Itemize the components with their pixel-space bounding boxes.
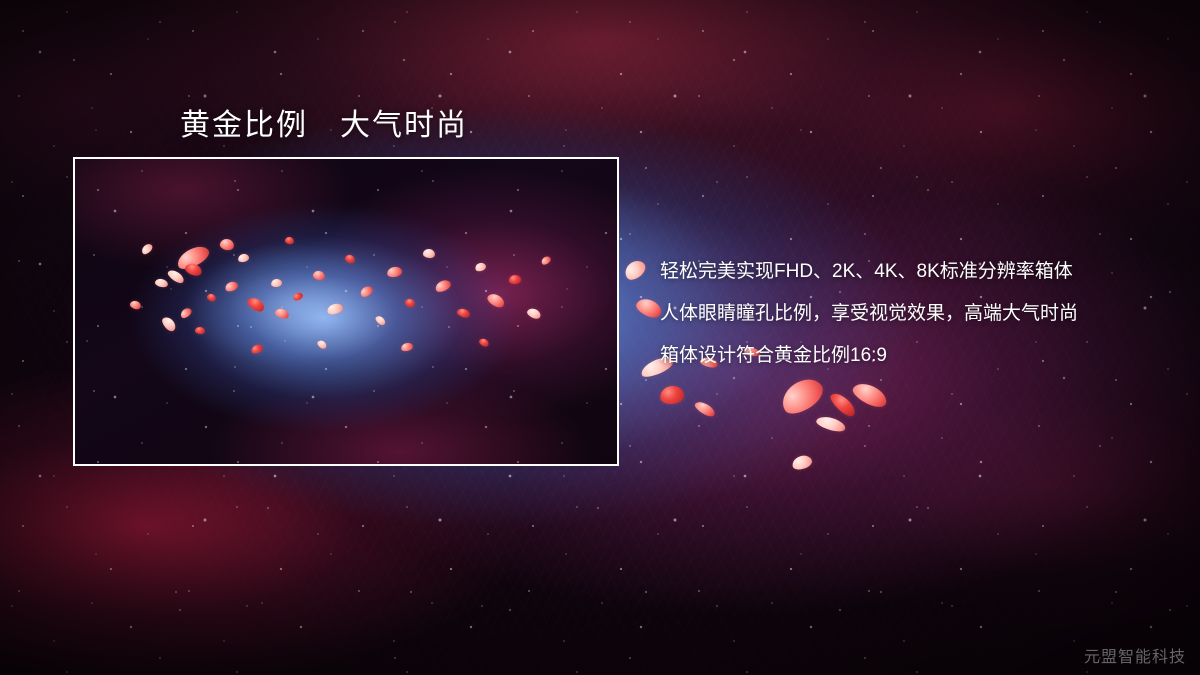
rose-petal <box>344 253 356 265</box>
rose-petal <box>359 284 375 299</box>
body-line-2: 人体眼睛瞳孔比例，享受视觉效果，高端大气时尚 <box>660 293 1180 335</box>
rose-petal <box>274 307 290 320</box>
rose-petal <box>326 302 344 316</box>
picture-nebula-image <box>75 159 617 464</box>
rose-petal <box>693 399 717 419</box>
rose-petal <box>434 278 453 294</box>
rose-petal <box>400 342 414 353</box>
rose-petal <box>485 291 506 310</box>
rose-petal <box>270 278 282 287</box>
rose-petal <box>790 453 813 472</box>
rose-petal <box>386 266 403 279</box>
rose-petal <box>195 327 206 335</box>
page-title: 黄金比例 大气时尚 <box>180 100 468 144</box>
rose-petal <box>154 278 168 289</box>
rose-petal <box>219 238 235 251</box>
rose-petal <box>850 379 890 411</box>
rose-petal <box>659 384 685 405</box>
rose-petal <box>776 372 828 420</box>
rose-petal <box>312 270 326 282</box>
rose-petal <box>815 414 847 434</box>
rose-petal <box>456 307 471 319</box>
rose-petal <box>316 339 328 351</box>
framed-picture <box>73 157 619 466</box>
rose-petal <box>237 253 250 264</box>
watermark: 元盟智能科技 <box>1084 643 1186 667</box>
rose-petal <box>245 295 266 314</box>
body-copy: 轻松完美实现FHD、2K、4K、8K标准分辨率箱体 人体眼睛瞳孔比例，享受视觉效… <box>660 251 1180 377</box>
rose-petal <box>374 314 387 326</box>
rose-petal <box>526 307 542 321</box>
rose-petal <box>179 306 193 320</box>
rose-petal <box>474 261 487 272</box>
rose-petal <box>284 236 294 244</box>
body-line-1: 轻松完美实现FHD、2K、4K、8K标准分辨率箱体 <box>660 251 1180 293</box>
rose-petal <box>206 292 217 302</box>
rose-petal <box>423 248 436 258</box>
slide-canvas: 黄金比例 大气时尚 轻松完美实现FHD、2K、4K、8K标准分辨率箱体 人体眼睛… <box>0 0 1200 675</box>
rose-petal <box>540 255 552 267</box>
rose-petal <box>292 291 304 302</box>
rose-petal <box>224 280 239 293</box>
rose-petal <box>478 337 490 348</box>
rose-petal <box>250 343 264 355</box>
body-line-3: 箱体设计符合黄金比例16:9 <box>660 335 1180 377</box>
rose-petal <box>140 242 154 256</box>
rose-petal <box>404 297 416 308</box>
rose-petal <box>166 268 186 286</box>
rose-petal <box>160 315 178 334</box>
rose-petal <box>621 257 648 283</box>
rose-petal <box>509 274 522 284</box>
rose-petal <box>129 300 142 311</box>
rose-petal <box>184 261 204 277</box>
